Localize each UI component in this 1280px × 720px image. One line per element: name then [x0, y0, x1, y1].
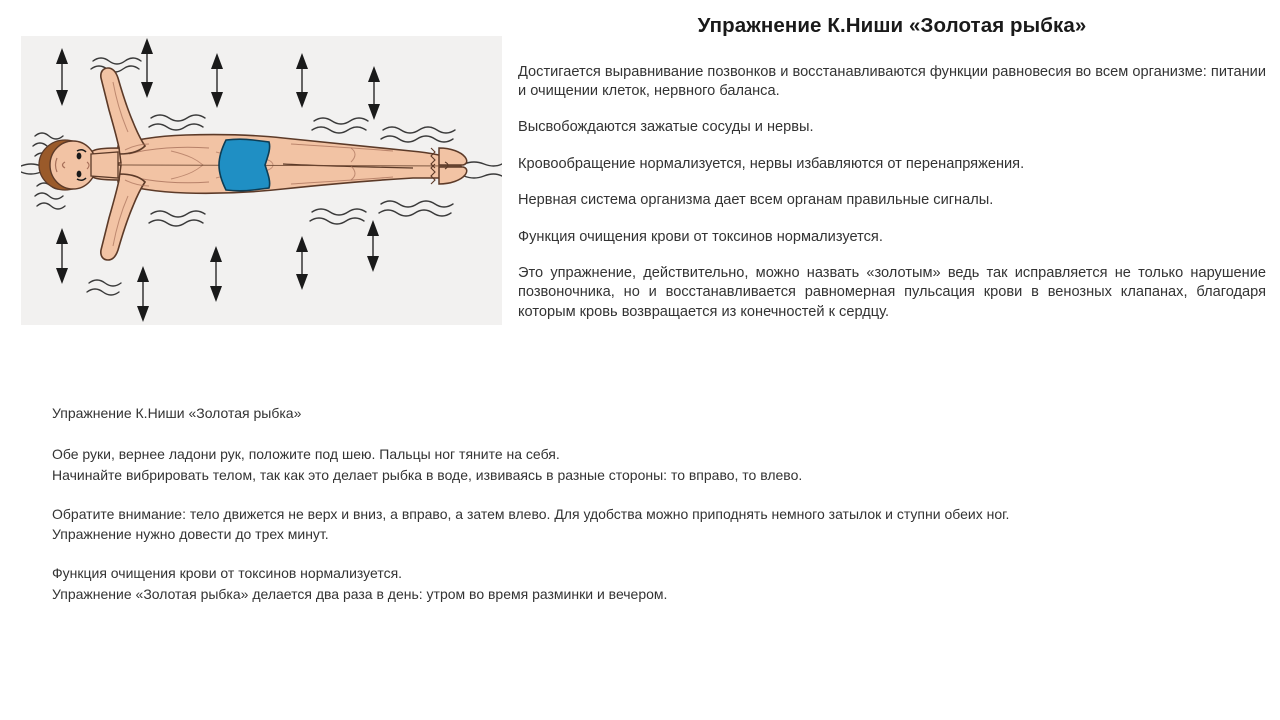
neck	[91, 152, 118, 178]
spacer	[52, 544, 1232, 563]
instructions-line-6: Упражнение «Золотая рыбка» делается два …	[52, 584, 1232, 604]
exercise-illustration-svg	[21, 36, 502, 325]
intro-paragraph-2: Высвобождаются зажатые сосуды и нервы.	[518, 118, 1266, 137]
eye-upper	[77, 153, 82, 160]
spacer	[52, 423, 1232, 444]
intro-paragraph-1: Достигается выравнивание позвонков и вос…	[518, 63, 1266, 102]
instructions-section: Упражнение К.Ниши «Золотая рыбка» Обе ру…	[52, 403, 1232, 604]
intro-paragraph-3: Кровообращение нормализуется, нервы изба…	[518, 155, 1266, 174]
instructions-line-5: Функция очищения крови от токсинов норма…	[52, 563, 1232, 583]
page-title: Упражнение К.Ниши «Золотая рыбка»	[518, 14, 1266, 39]
intro-paragraph-5: Функция очищения крови от токсинов норма…	[518, 228, 1266, 247]
exercise-illustration	[21, 36, 502, 325]
top-section: Упражнение К.Ниши «Золотая рыбка» Достиг…	[0, 0, 1280, 380]
intro-paragraph-4: Нервная система организма дает всем орга…	[518, 191, 1266, 210]
intro-text-column: Упражнение К.Ниши «Золотая рыбка» Достиг…	[518, 14, 1266, 322]
intro-paragraph-6: Это упражнение, действительно, можно наз…	[518, 264, 1266, 322]
swim-shorts	[219, 139, 270, 191]
eye-lower	[77, 171, 82, 178]
instructions-line-1: Обе руки, вернее ладони рук, положите по…	[52, 444, 1232, 464]
instructions-heading: Упражнение К.Ниши «Золотая рыбка»	[52, 403, 1232, 423]
spacer	[52, 485, 1232, 504]
instructions-line-4: Упражнение нужно довести до трех минут.	[52, 524, 1232, 544]
instructions-line-3: Обратите внимание: тело движется не верх…	[52, 504, 1232, 524]
instructions-line-2: Начинайте вибрировать телом, так как это…	[52, 465, 1232, 485]
